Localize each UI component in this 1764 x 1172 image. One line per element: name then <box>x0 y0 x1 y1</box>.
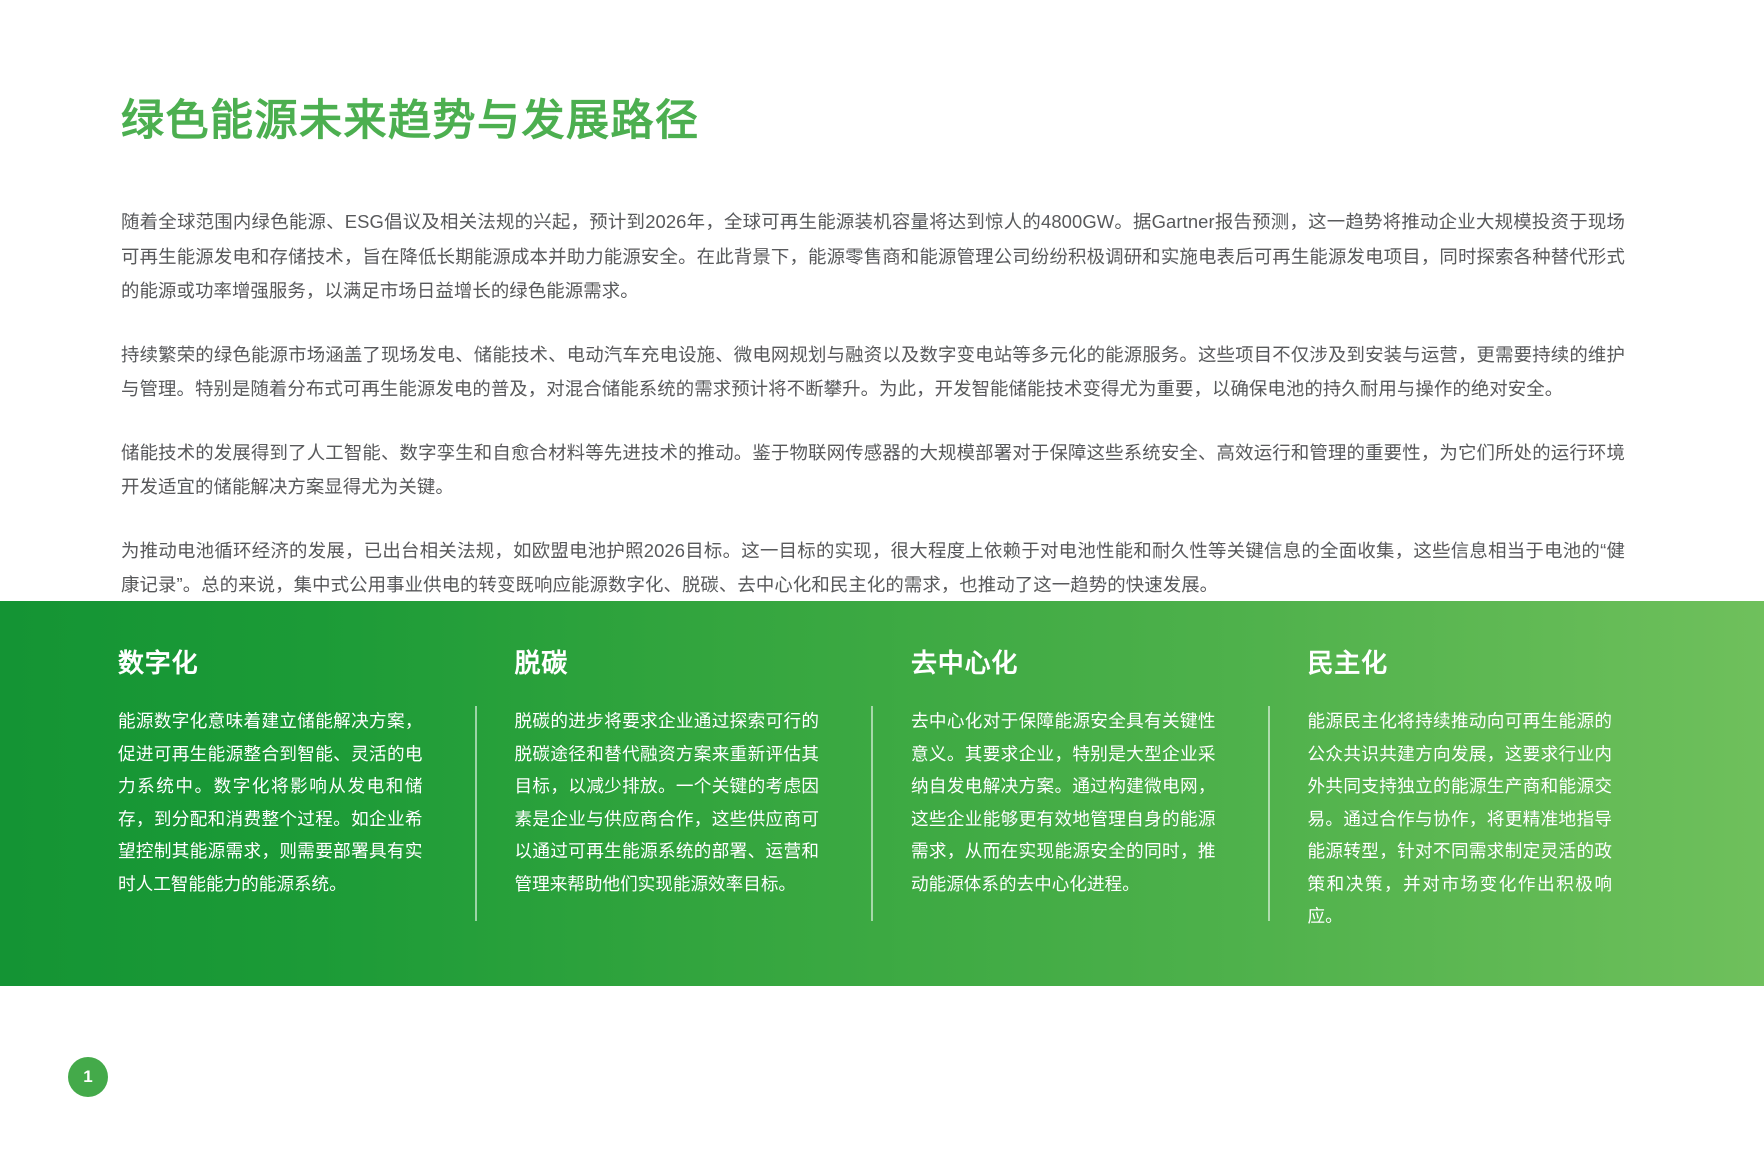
pillar-card-title: 数字化 <box>118 648 423 679</box>
pillar-card-digitalization: 数字化 能源数字化意味着建立储能解决方案，促进可再生能源整合到智能、灵活的电力系… <box>118 601 475 986</box>
pillar-card-title: 去中心化 <box>911 648 1216 679</box>
paragraph-1: 随着全球范围内绿色能源、ESG倡议及相关法规的兴起，预计到2026年，全球可再生… <box>121 205 1625 309</box>
paragraph-3: 储能技术的发展得到了人工智能、数字孪生和自愈合材料等先进技术的推动。鉴于物联网传… <box>121 436 1625 505</box>
title-section: 绿色能源未来趋势与发展路径 <box>121 97 1621 146</box>
pillar-card-body: 脱碳的进步将要求企业通过探索可行的脱碳途径和替代融资方案来重新评估其目标，以减少… <box>515 705 820 900</box>
pillar-card-body: 能源民主化将持续推动向可再生能源的公众共识共建方向发展，这要求行业内外共同支持独… <box>1308 705 1613 933</box>
body-content: 随着全球范围内绿色能源、ESG倡议及相关法规的兴起，预计到2026年，全球可再生… <box>121 205 1625 603</box>
highlight-band: 数字化 能源数字化意味着建立储能解决方案，促进可再生能源整合到智能、灵活的电力系… <box>0 601 1764 986</box>
paragraph-2: 持续繁荣的绿色能源市场涵盖了现场发电、储能技术、电动汽车充电设施、微电网规划与融… <box>121 338 1625 407</box>
page-title: 绿色能源未来趋势与发展路径 <box>121 97 1621 146</box>
pillar-card-body: 去中心化对于保障能源安全具有关键性意义。其要求企业，特别是大型企业采纳自发电解决… <box>911 705 1216 900</box>
pillar-card-title: 脱碳 <box>515 648 820 679</box>
pillar-card-title: 民主化 <box>1308 648 1613 679</box>
card-divider <box>475 706 477 921</box>
document-page: 绿色能源未来趋势与发展路径 随着全球范围内绿色能源、ESG倡议及相关法规的兴起，… <box>0 0 1764 1172</box>
pillar-card-democratization: 民主化 能源民主化将持续推动向可再生能源的公众共识共建方向发展，这要求行业内外共… <box>1268 601 1665 986</box>
card-divider <box>1268 706 1270 921</box>
page-number-badge: 1 <box>68 1057 108 1097</box>
paragraph-4: 为推动电池循环经济的发展，已出台相关法规，如欧盟电池护照2026目标。这一目标的… <box>121 534 1625 603</box>
card-divider <box>871 706 873 921</box>
pillar-card-body: 能源数字化意味着建立储能解决方案，促进可再生能源整合到智能、灵活的电力系统中。数… <box>118 705 423 900</box>
pillar-cards: 数字化 能源数字化意味着建立储能解决方案，促进可再生能源整合到智能、灵活的电力系… <box>0 601 1764 986</box>
pillar-card-decentralization: 去中心化 去中心化对于保障能源安全具有关键性意义。其要求企业，特别是大型企业采纳… <box>871 601 1268 986</box>
pillar-card-decarbonization: 脱碳 脱碳的进步将要求企业通过探索可行的脱碳途径和替代融资方案来重新评估其目标，… <box>475 601 872 986</box>
